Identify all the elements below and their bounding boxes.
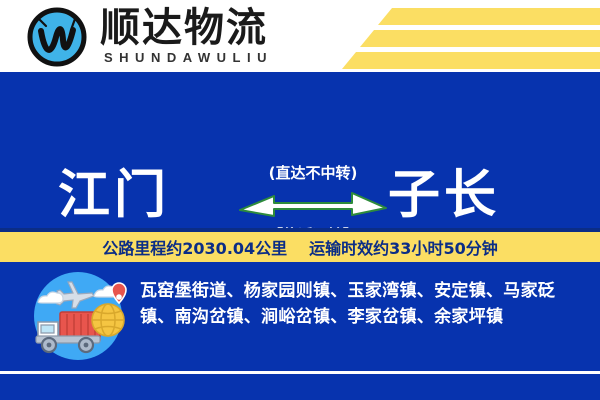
destination-city: 子长 xyxy=(388,153,500,228)
banner-header: 顺达物流 SHUNDAWULIU xyxy=(0,0,600,72)
origin-city: 江门 xyxy=(58,153,170,228)
covered-towns-list: 瓦窑堡街道、杨家园则镇、玉家湾镇、安定镇、马家砭镇、南沟岔镇、涧峪岔镇、李家岔镇… xyxy=(140,278,588,330)
brand-name-en: SHUNDAWULIU xyxy=(104,50,273,65)
direct-transit-note: (直达不中转) xyxy=(238,162,388,183)
route-section: 江门 (直达不中转) 【往返运输】 子长 xyxy=(0,72,600,228)
brand-name-cn: 顺达物流 xyxy=(100,6,268,50)
logistics-route-banner: 顺达物流 SHUNDAWULIU 江门 (直达不中转) 【往返运输】 子长 公 xyxy=(0,0,600,400)
double-headed-arrow-icon xyxy=(238,189,388,219)
duration-label: 运输时效约33小时50分钟 xyxy=(309,235,498,259)
distance-label: 公路里程约2030.04公里 xyxy=(102,235,287,259)
distance-duration-bar: 公路里程约2030.04公里 运输时效约33小时50分钟 xyxy=(0,232,600,262)
footer-divider xyxy=(0,371,600,374)
slanted-stripes-icon xyxy=(340,0,600,72)
truck-globe-airplane-icon xyxy=(22,270,134,362)
company-logo-icon xyxy=(26,6,88,68)
coverage-section: 瓦窑堡街道、杨家园则镇、玉家湾镇、安定镇、马家砭镇、南沟岔镇、涧峪岔镇、李家岔镇… xyxy=(0,262,600,370)
